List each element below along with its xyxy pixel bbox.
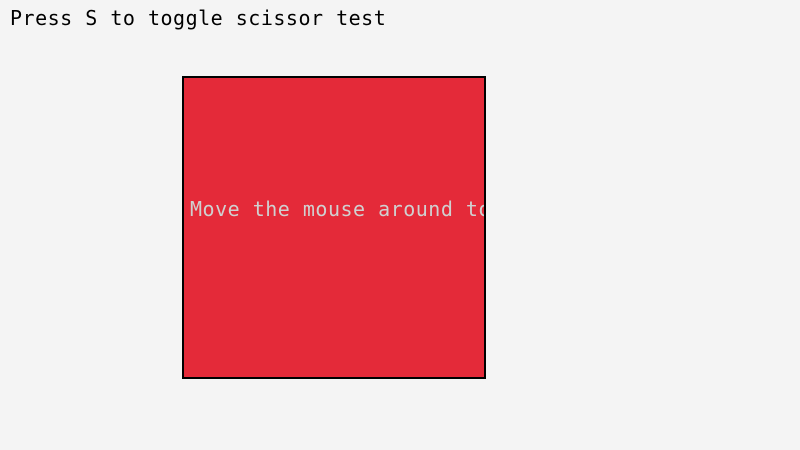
scissor-toggle-hint: Press S to toggle scissor test	[10, 6, 386, 30]
scissor-hidden-message: Move the mouse around to reveal the hidd…	[190, 198, 484, 220]
scissor-region[interactable]: Move the mouse around to reveal the hidd…	[182, 76, 486, 379]
scissor-clip-box: Move the mouse around to reveal the hidd…	[184, 78, 484, 377]
app-canvas: Press S to toggle scissor test Move the …	[0, 0, 800, 450]
